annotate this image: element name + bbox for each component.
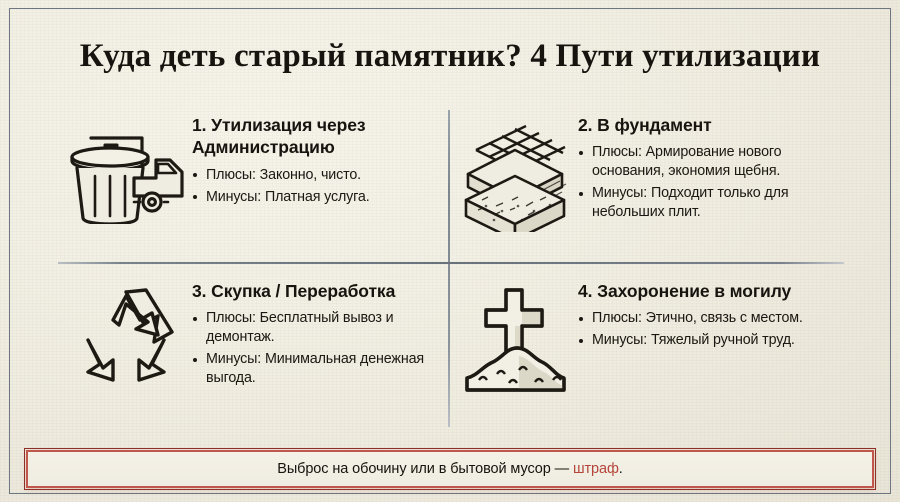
infographic-poster: Куда деть старый памятник? 4 Пути утилиз… [0,0,900,502]
warning-highlight: штраф [573,461,619,477]
bullet-dot-icon [193,317,197,321]
bullet-text: Минусы: Тяжелый ручной труд. [592,332,795,348]
list-item: Минусы: Платная услуга. [192,188,448,207]
option-card-4: 4. Захоронение в могилу Плюсы: Этично, с… [452,278,844,426]
warning-text-after: . [619,461,623,477]
option-3-heading: 3. Скупка / Переработка [192,280,448,302]
bullet-text: Плюсы: Этично, связь с местом. [592,310,803,326]
option-1-heading: 1. Утилизация через Администрацию [192,114,448,159]
foundation-slab-rebar-icon [452,112,578,232]
option-3-bullets: Плюсы: Бесплатный вывоз и демонтаж. Мину… [192,309,448,388]
trash-bin-and-truck-icon [60,112,192,224]
bullet-text: Минусы: Подходит только для небольших пл… [592,185,788,220]
list-item: Плюсы: Бесплатный вывоз и демонтаж. [192,309,448,347]
list-item: Минусы: Минимальная денежная выгода. [192,350,448,388]
bullet-text: Минусы: Платная услуга. [206,189,370,205]
list-item: Плюсы: Этично, связь с местом. [578,309,844,328]
bullet-dot-icon [193,173,197,177]
list-item: Минусы: Тяжелый ручной труд. [578,331,844,350]
option-4-heading: 4. Захоронение в могилу [578,280,844,302]
list-item: Плюсы: Законно, чисто. [192,166,448,185]
option-1-text: 1. Утилизация через Администрацию Плюсы:… [192,112,448,210]
option-1-bullets: Плюсы: Законно, чисто. Минусы: Платная у… [192,166,448,207]
option-2-heading: 2. В фундамент [578,114,844,136]
warning-banner: Выброс на обочину или в бытовой мусор — … [26,450,874,488]
bullet-dot-icon [193,195,197,199]
bullet-dot-icon [193,358,197,362]
option-4-bullets: Плюсы: Этично, связь с местом. Минусы: Т… [578,309,844,350]
option-card-3: 3. Скупка / Переработка Плюсы: Бесплатны… [60,278,448,426]
warning-text-before: Выброс на обочину или в бытовой мусор — [277,461,573,477]
recycling-arrows-icon [60,278,192,396]
horizontal-divider [58,262,844,264]
bullet-text: Плюсы: Армирование нового основания, эко… [592,144,781,179]
warning-text: Выброс на обочину или в бытовой мусор — … [277,461,622,477]
option-2-bullets: Плюсы: Армирование нового основания, эко… [578,143,844,222]
bullet-dot-icon [579,192,583,196]
option-card-2: 2. В фундамент Плюсы: Армирование нового… [452,112,844,260]
bullet-text: Плюсы: Законно, чисто. [206,167,361,183]
bullet-text: Минусы: Минимальная денежная выгода. [206,351,424,386]
option-card-1: 1. Утилизация через Администрацию Плюсы:… [60,112,448,260]
list-item: Плюсы: Армирование нового основания, эко… [578,143,844,181]
option-4-text: 4. Захоронение в могилу Плюсы: Этично, с… [578,278,844,353]
list-item: Минусы: Подходит только для небольших пл… [578,184,844,222]
bullet-dot-icon [579,151,583,155]
grave-cross-mound-icon [452,278,578,398]
bullet-dot-icon [579,339,583,343]
bullet-dot-icon [579,317,583,321]
bullet-text: Плюсы: Бесплатный вывоз и демонтаж. [206,310,393,345]
option-2-text: 2. В фундамент Плюсы: Армирование нового… [578,112,844,225]
vertical-divider [448,110,450,427]
option-3-text: 3. Скупка / Переработка Плюсы: Бесплатны… [192,278,448,391]
page-title: Куда деть старый памятник? 4 Пути утилиз… [0,38,900,75]
